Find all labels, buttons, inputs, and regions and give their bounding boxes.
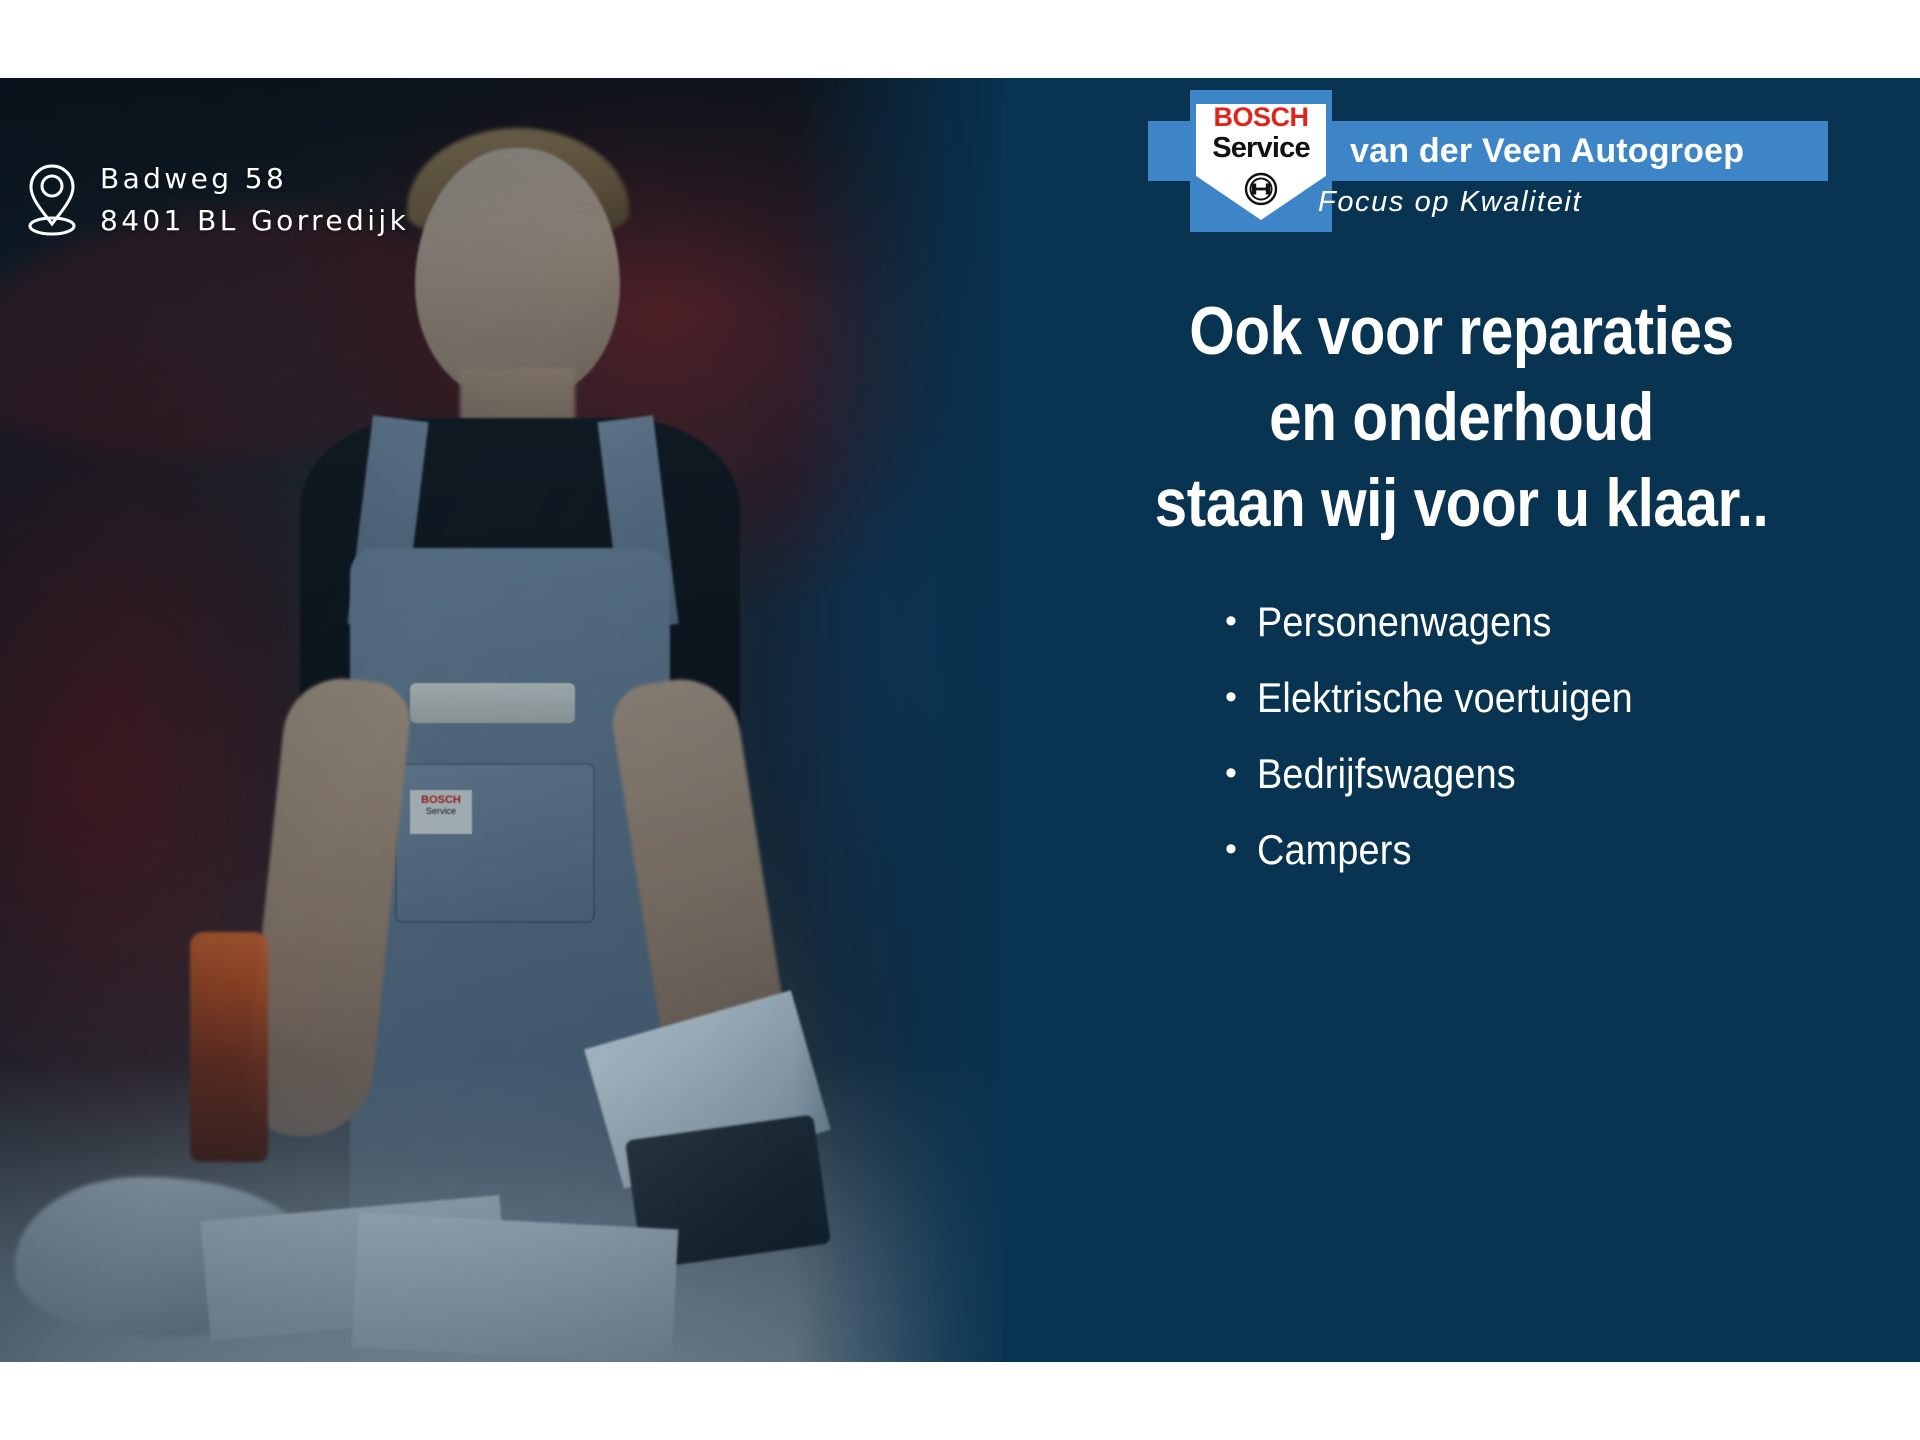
- bosch-armature-icon: [1244, 172, 1278, 206]
- service-label: Elektrische voertuigen: [1257, 674, 1633, 722]
- advertisement-stage: BOSCH Service Badweg 58 8401 BL Gorr: [0, 78, 1920, 1362]
- bullet-icon: •: [1225, 680, 1237, 714]
- address-line-1: Badweg 58: [100, 158, 409, 200]
- bosch-service-logo: BOSCH Service: [1190, 90, 1332, 232]
- address-text: Badweg 58 8401 BL Gorredijk: [100, 158, 409, 242]
- headline-line-1: Ook voor reparaties: [1067, 288, 1856, 374]
- service-label: Personenwagens: [1257, 598, 1552, 646]
- photo-right-fade: [793, 78, 1003, 1362]
- bosch-service-word: Service: [1190, 132, 1332, 165]
- workshop-photo: BOSCH Service: [0, 78, 1003, 1362]
- service-label: Campers: [1257, 826, 1412, 874]
- list-item: • Elektrische voertuigen: [1003, 674, 1920, 750]
- location-pin-icon: [26, 162, 78, 238]
- bullet-icon: •: [1225, 832, 1237, 866]
- address-line-2: 8401 BL Gorredijk: [100, 200, 409, 242]
- list-item: • Personenwagens: [1003, 598, 1920, 674]
- bullet-icon: •: [1225, 756, 1237, 790]
- company-name: van der Veen Autogroep: [1350, 121, 1820, 181]
- address-block: Badweg 58 8401 BL Gorredijk: [26, 158, 409, 242]
- services-list: • Personenwagens • Elektrische voertuige…: [1003, 598, 1920, 902]
- content-panel: BOSCH Service van der Veen Autogroep Foc…: [1003, 78, 1920, 1362]
- bullet-icon: •: [1225, 604, 1237, 638]
- headline-line-3: staan wij voor u klaar..: [1067, 460, 1856, 546]
- bosch-wordmark: BOSCH: [1190, 102, 1332, 133]
- headline-line-2: en onderhoud: [1067, 374, 1856, 460]
- list-item: • Campers: [1003, 826, 1920, 902]
- service-label: Bedrijfswagens: [1257, 750, 1516, 798]
- list-item: • Bedrijfswagens: [1003, 750, 1920, 826]
- brand-lockup: BOSCH Service van der Veen Autogroep Foc…: [978, 90, 1828, 230]
- headline: Ook voor reparaties en onderhoud staan w…: [1067, 288, 1856, 546]
- company-tagline: Focus op Kwaliteit: [1318, 186, 1582, 219]
